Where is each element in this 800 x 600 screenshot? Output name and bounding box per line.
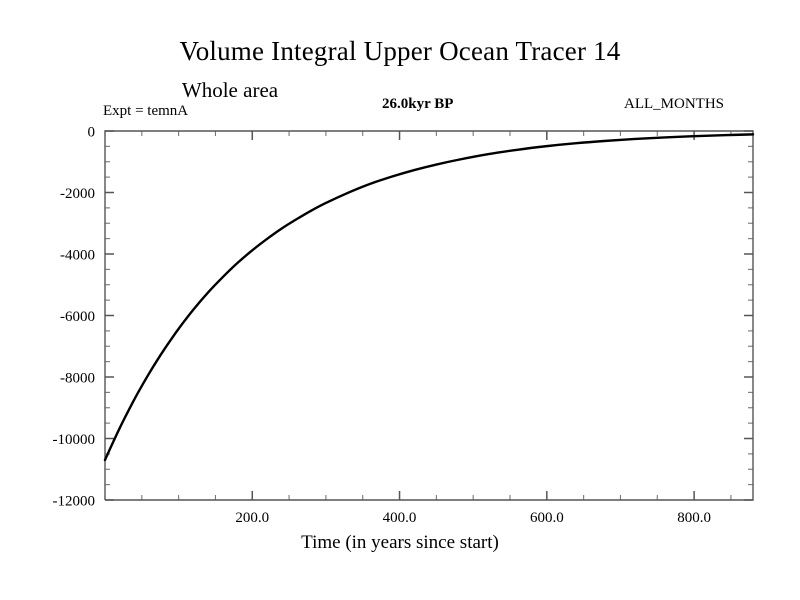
- x-axis-major-ticks: [252, 131, 694, 500]
- y-axis-major-ticks: [105, 131, 753, 500]
- axis-frame: [105, 131, 753, 500]
- y-axis-tick-label: -4000: [60, 248, 95, 264]
- x-axis-tick-label: 400.0: [383, 510, 417, 526]
- y-axis-tick-label: -8000: [60, 371, 95, 387]
- y-axis-tick-labels: 0-2000-4000-6000-8000-10000-12000: [53, 125, 96, 510]
- data-series-line: [105, 134, 753, 460]
- x-axis-minor-ticks: [105, 131, 731, 500]
- chart-page: Volume Integral Upper Ocean Tracer 14 Wh…: [0, 0, 800, 600]
- y-axis-tick-label: -6000: [60, 309, 95, 325]
- x-axis-tick-label: 600.0: [530, 510, 564, 526]
- x-axis-tick-label: 200.0: [235, 510, 269, 526]
- plot-area: 0-2000-4000-6000-8000-10000-12000 200.04…: [0, 0, 800, 600]
- y-axis-tick-label: 0: [88, 125, 96, 141]
- y-axis-tick-label: -2000: [60, 186, 95, 202]
- x-axis-tick-label: 800.0: [677, 510, 711, 526]
- y-axis-minor-ticks: [105, 146, 753, 484]
- x-axis-tick-labels: 200.0400.0600.0800.0: [235, 510, 711, 526]
- x-axis-label: Time (in years since start): [0, 532, 800, 554]
- y-axis-tick-label: -10000: [53, 432, 96, 448]
- y-axis-tick-label: -12000: [53, 494, 96, 510]
